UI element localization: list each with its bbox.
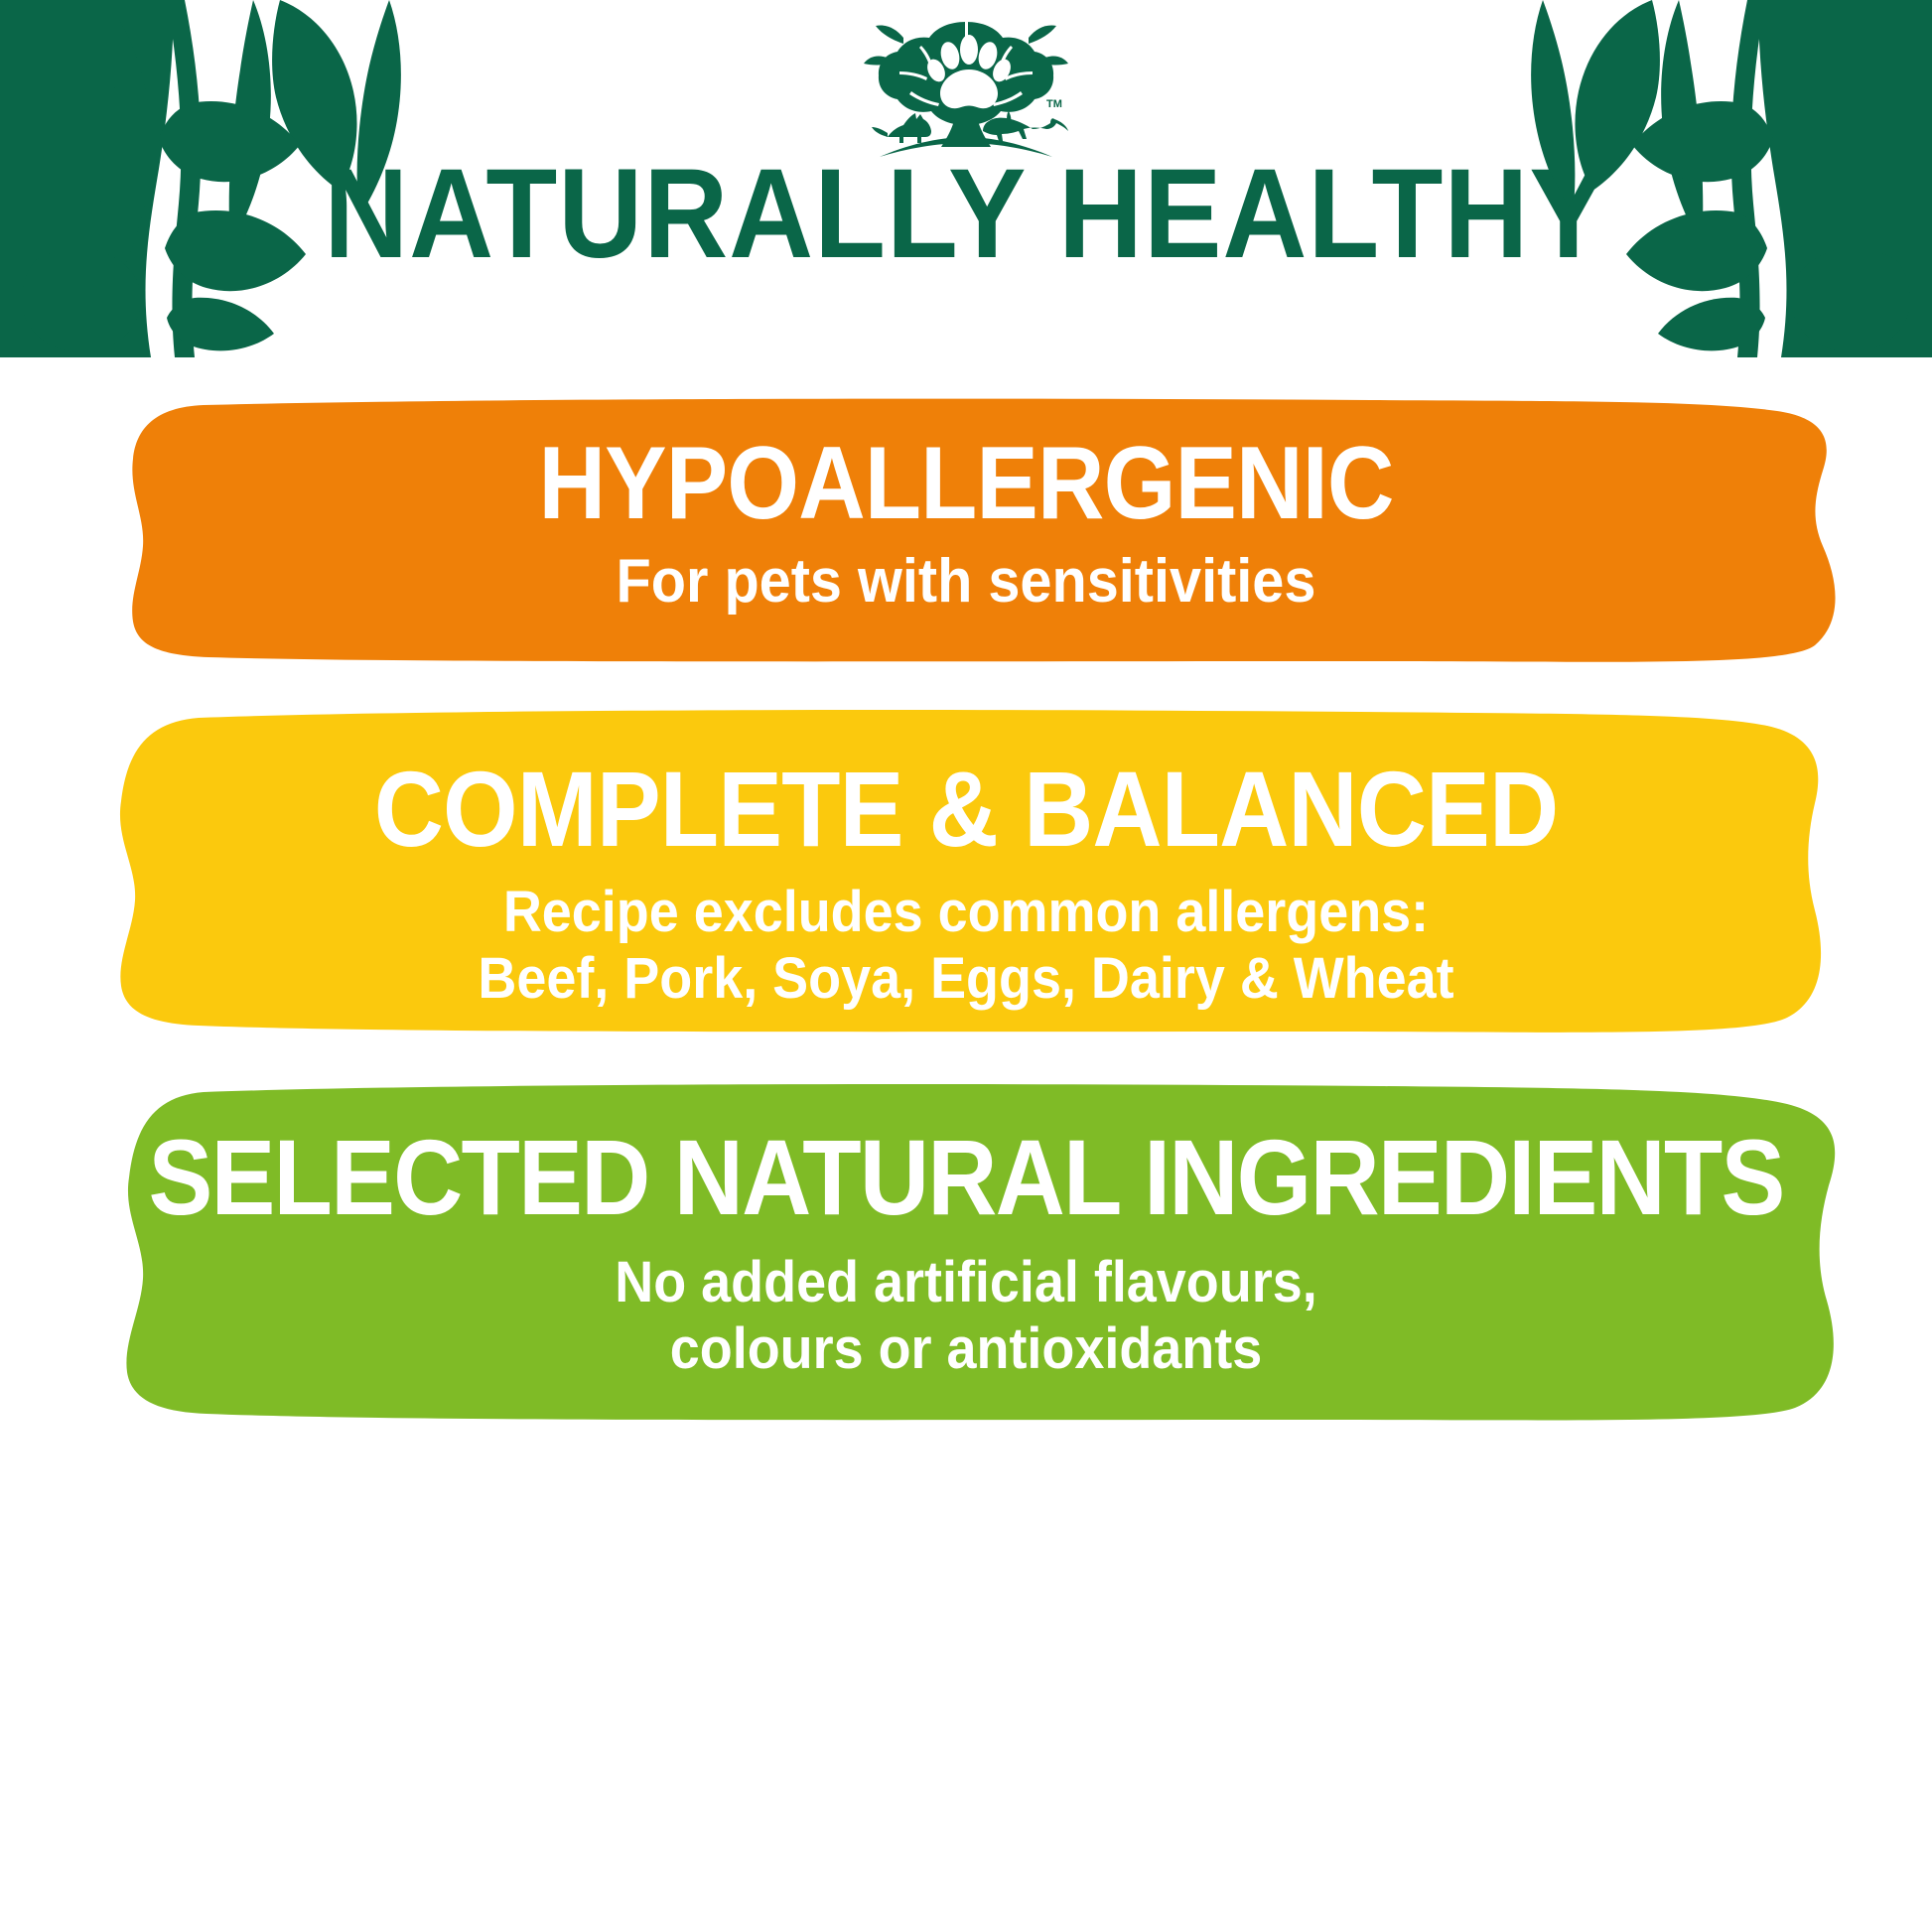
header: TM NATURALLY HEALTHY [0, 0, 1932, 357]
page-title: NATURALLY HEALTHY [77, 151, 1855, 278]
band-title-selected-natural-ingredients: SELECTED NATURAL INGREDIENTS [96, 1124, 1835, 1231]
band-subtitle-hypoallergenic: For pets with sensitivities [68, 546, 1864, 618]
trademark-mark: TM [1046, 98, 1062, 110]
benefit-band-selected-natural-ingredients: SELECTED NATURAL INGREDIENTS No added ar… [0, 1082, 1932, 1425]
band-subtitle-selected-natural-ingredients: No added artificial flavours, colours or… [68, 1249, 1864, 1383]
band-subtitle-line-2: Beef, Pork, Soya, Eggs, Dairy & Wheat [68, 945, 1864, 1012]
band-subtitle-line-1: No added artificial flavours, [68, 1249, 1864, 1315]
band-title-complete-balanced: COMPLETE & BALANCED [96, 756, 1835, 863]
band-subtitle-line-2: colours or antioxidants [68, 1315, 1864, 1382]
benefit-band-hypoallergenic: HYPOALLERGENIC For pets with sensitiviti… [0, 397, 1932, 665]
band-title-hypoallergenic: HYPOALLERGENIC [96, 432, 1835, 535]
benefit-band-complete-balanced: COMPLETE & BALANCED Recipe excludes comm… [0, 708, 1932, 1035]
band-subtitle-complete-balanced: Recipe excludes common allergens: Beef, … [68, 879, 1864, 1013]
band-subtitle-line-1: Recipe excludes common allergens: [68, 879, 1864, 945]
